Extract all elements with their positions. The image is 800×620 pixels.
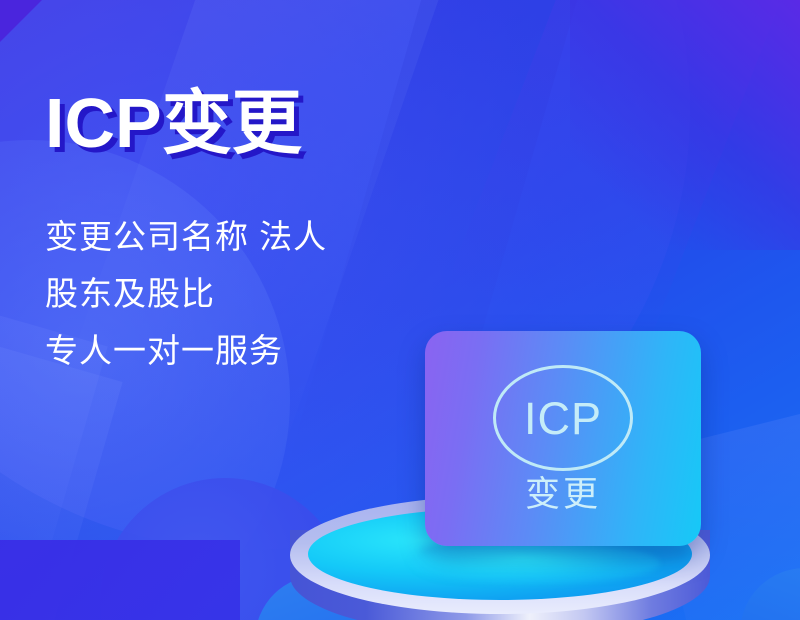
pedestal-glow bbox=[410, 542, 660, 584]
decorative-square-bottom-left bbox=[0, 540, 240, 620]
subtitle-line-1: 变更公司名称 法人 bbox=[45, 208, 327, 265]
icp-badge-label: ICP bbox=[524, 396, 602, 441]
promo-banner: ICP 变更 ICP变更 变更公司名称 法人 股东及股比 专人一对一服务 bbox=[0, 0, 800, 620]
page-subtitle: 变更公司名称 法人 股东及股比 专人一对一服务 bbox=[45, 208, 327, 379]
page-title: ICP变更 bbox=[45, 88, 302, 158]
subtitle-line-2: 股东及股比 bbox=[45, 265, 327, 322]
icp-badge-ellipse: ICP bbox=[493, 365, 633, 471]
decorative-wedge-bottom-right bbox=[740, 568, 800, 620]
decorative-corner-top-left bbox=[0, 0, 44, 44]
decorative-blade-left bbox=[0, 341, 123, 620]
subtitle-line-3: 专人一对一服务 bbox=[45, 322, 327, 379]
icp-card-caption: 变更 bbox=[525, 477, 601, 512]
icp-card: ICP 变更 bbox=[425, 331, 701, 546]
decorative-corner-top-right bbox=[570, 0, 800, 250]
light-beam-c bbox=[446, 0, 800, 360]
